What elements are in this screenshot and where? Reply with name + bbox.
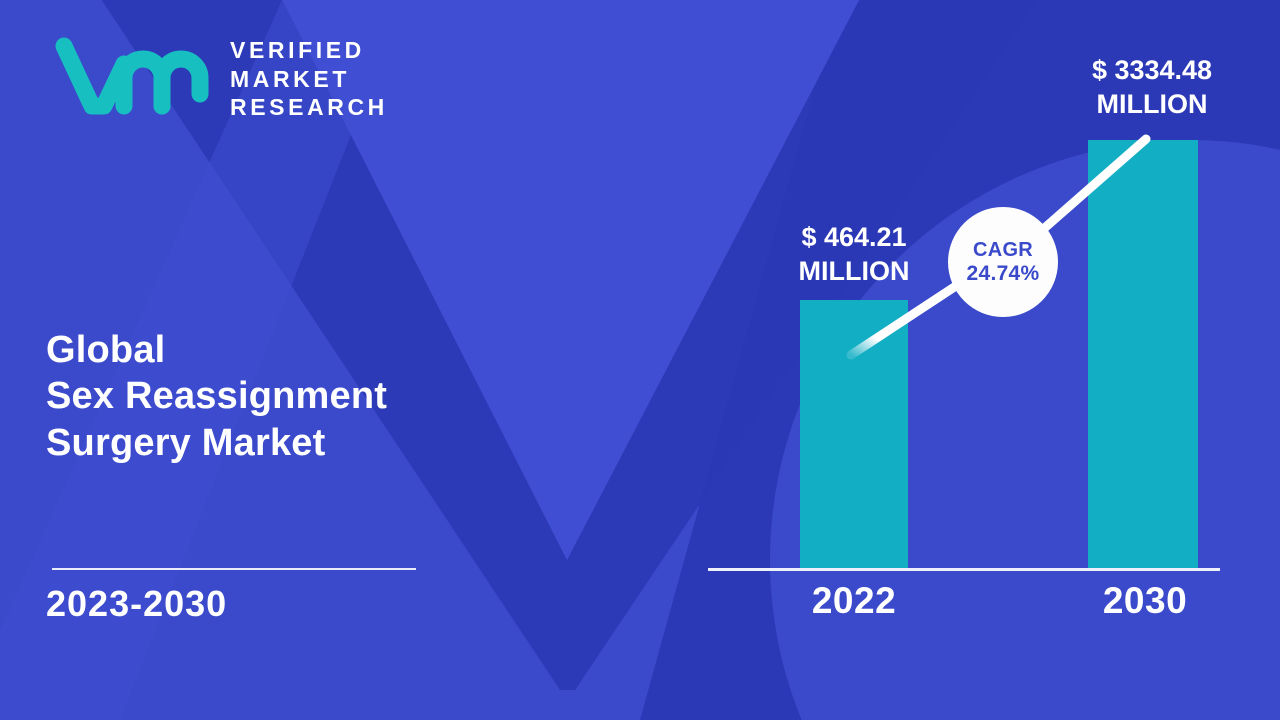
infographic-canvas: VERIFIED MARKET RESEARCH Global Sex Reas… [0,0,1280,720]
value-label-2022: $ 464.21 MILLION [762,221,946,289]
bar-2022 [800,300,908,570]
x-tick-2022: 2022 [762,580,946,622]
value-label-2022-amount: $ 464.21 [762,221,946,255]
cagr-label: CAGR [973,239,1033,261]
x-tick-2030: 2030 [1053,580,1237,622]
value-label-2030-unit: MILLION [1042,88,1262,122]
x-axis-line [708,568,1220,571]
bar-2030 [1088,140,1198,568]
bar-chart: $ 464.21 MILLION $ 3334.48 MILLION CAGR [0,0,1280,720]
value-label-2030: $ 3334.48 MILLION [1042,54,1262,122]
cagr-badge: CAGR 24.74% [948,207,1058,317]
cagr-value: 24.74% [966,262,1039,286]
value-label-2022-unit: MILLION [762,255,946,289]
value-label-2030-amount: $ 3334.48 [1042,54,1262,88]
